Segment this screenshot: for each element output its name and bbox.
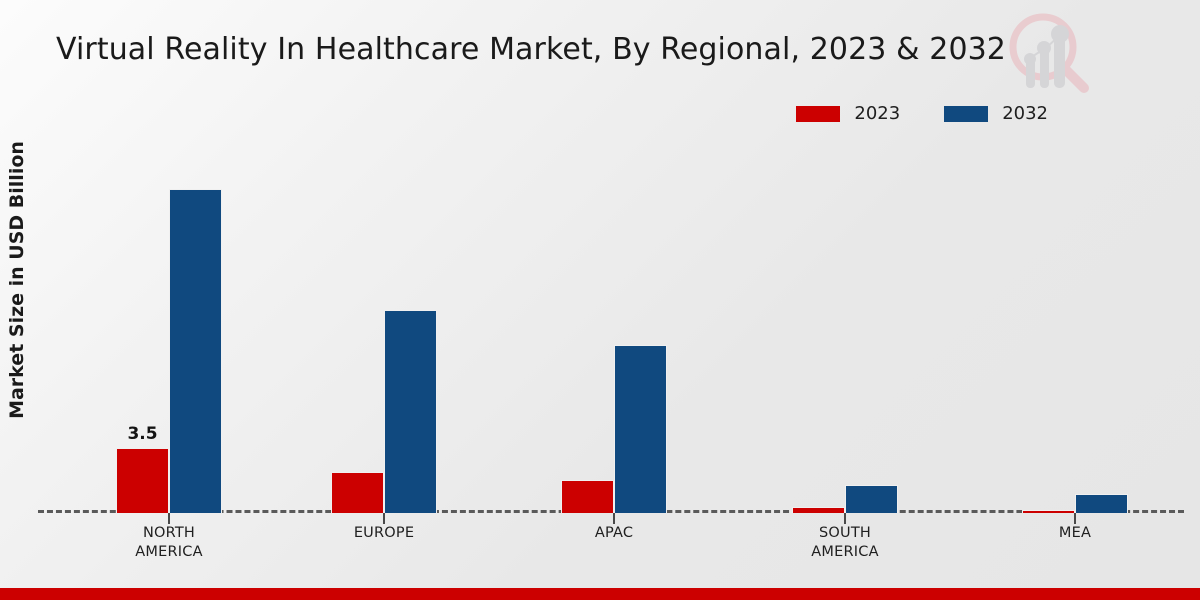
- bar-group: 3.5NORTHAMERICA: [113, 150, 225, 513]
- plot-area: 3.5NORTHAMERICAEUROPEAPACSOUTHAMERICAMEA: [38, 150, 1184, 513]
- bar-2032-mea[interactable]: [1075, 494, 1128, 513]
- x-axis-tick: [613, 513, 615, 524]
- bar-2023-south-america[interactable]: [792, 507, 845, 513]
- x-axis-category-label: SOUTHAMERICA: [789, 524, 901, 562]
- chart-legend: 2023 2032: [796, 103, 1048, 124]
- bar-pair: 3.5: [113, 150, 225, 513]
- legend-item-2032[interactable]: 2032: [944, 103, 1048, 124]
- bar-2032-north-america[interactable]: [169, 189, 222, 513]
- x-axis-category-label: EUROPE: [328, 524, 440, 543]
- x-axis-category-line: NORTH: [113, 524, 225, 543]
- x-axis-tick: [844, 513, 846, 524]
- x-axis-category-label: APAC: [558, 524, 670, 543]
- x-axis-category-line: MEA: [1019, 524, 1131, 543]
- bar-2032-south-america[interactable]: [845, 485, 898, 513]
- x-axis-category-label: NORTHAMERICA: [113, 524, 225, 562]
- chart-title: Virtual Reality In Healthcare Market, By…: [56, 32, 1006, 67]
- legend-swatch-2023: [796, 106, 840, 122]
- x-axis-category-label: MEA: [1019, 524, 1131, 543]
- watermark-logo: [1002, 6, 1094, 98]
- x-axis-category-line: SOUTH: [789, 524, 901, 543]
- x-axis-tick: [1074, 513, 1076, 524]
- bar-pair: [328, 150, 440, 513]
- bar-group: MEA: [1019, 150, 1131, 513]
- bar-pair: [558, 150, 670, 513]
- y-axis-title-text: Market Size in USD Billion: [6, 141, 28, 419]
- x-axis-tick: [383, 513, 385, 524]
- bar-2023-mea[interactable]: [1022, 510, 1075, 513]
- bar-2032-europe[interactable]: [384, 310, 437, 513]
- bar-pair: [1019, 150, 1131, 513]
- legend-label-2032: 2032: [1002, 103, 1048, 124]
- bar-2023-north-america[interactable]: 3.5: [116, 448, 169, 513]
- x-axis-tick: [168, 513, 170, 524]
- x-axis-category-line: APAC: [558, 524, 670, 543]
- bar-group: SOUTHAMERICA: [789, 150, 901, 513]
- bar-2023-europe[interactable]: [331, 472, 384, 513]
- bar-pair: [789, 150, 901, 513]
- x-axis-category-line: AMERICA: [789, 543, 901, 562]
- legend-label-2023: 2023: [854, 103, 900, 124]
- bar-2023-apac[interactable]: [561, 480, 614, 514]
- x-axis-category-line: AMERICA: [113, 543, 225, 562]
- legend-item-2023[interactable]: 2023: [796, 103, 900, 124]
- bar-group: APAC: [558, 150, 670, 513]
- bar-2032-apac[interactable]: [614, 345, 667, 513]
- legend-swatch-2032: [944, 106, 988, 122]
- bottom-accent-band: [0, 588, 1200, 600]
- x-axis-category-line: EUROPE: [328, 524, 440, 543]
- bar-value-label: 3.5: [127, 424, 157, 444]
- bar-group: EUROPE: [328, 150, 440, 513]
- chart-figure: Virtual Reality In Healthcare Market, By…: [0, 0, 1200, 600]
- y-axis-title: Market Size in USD Billion: [0, 0, 34, 600]
